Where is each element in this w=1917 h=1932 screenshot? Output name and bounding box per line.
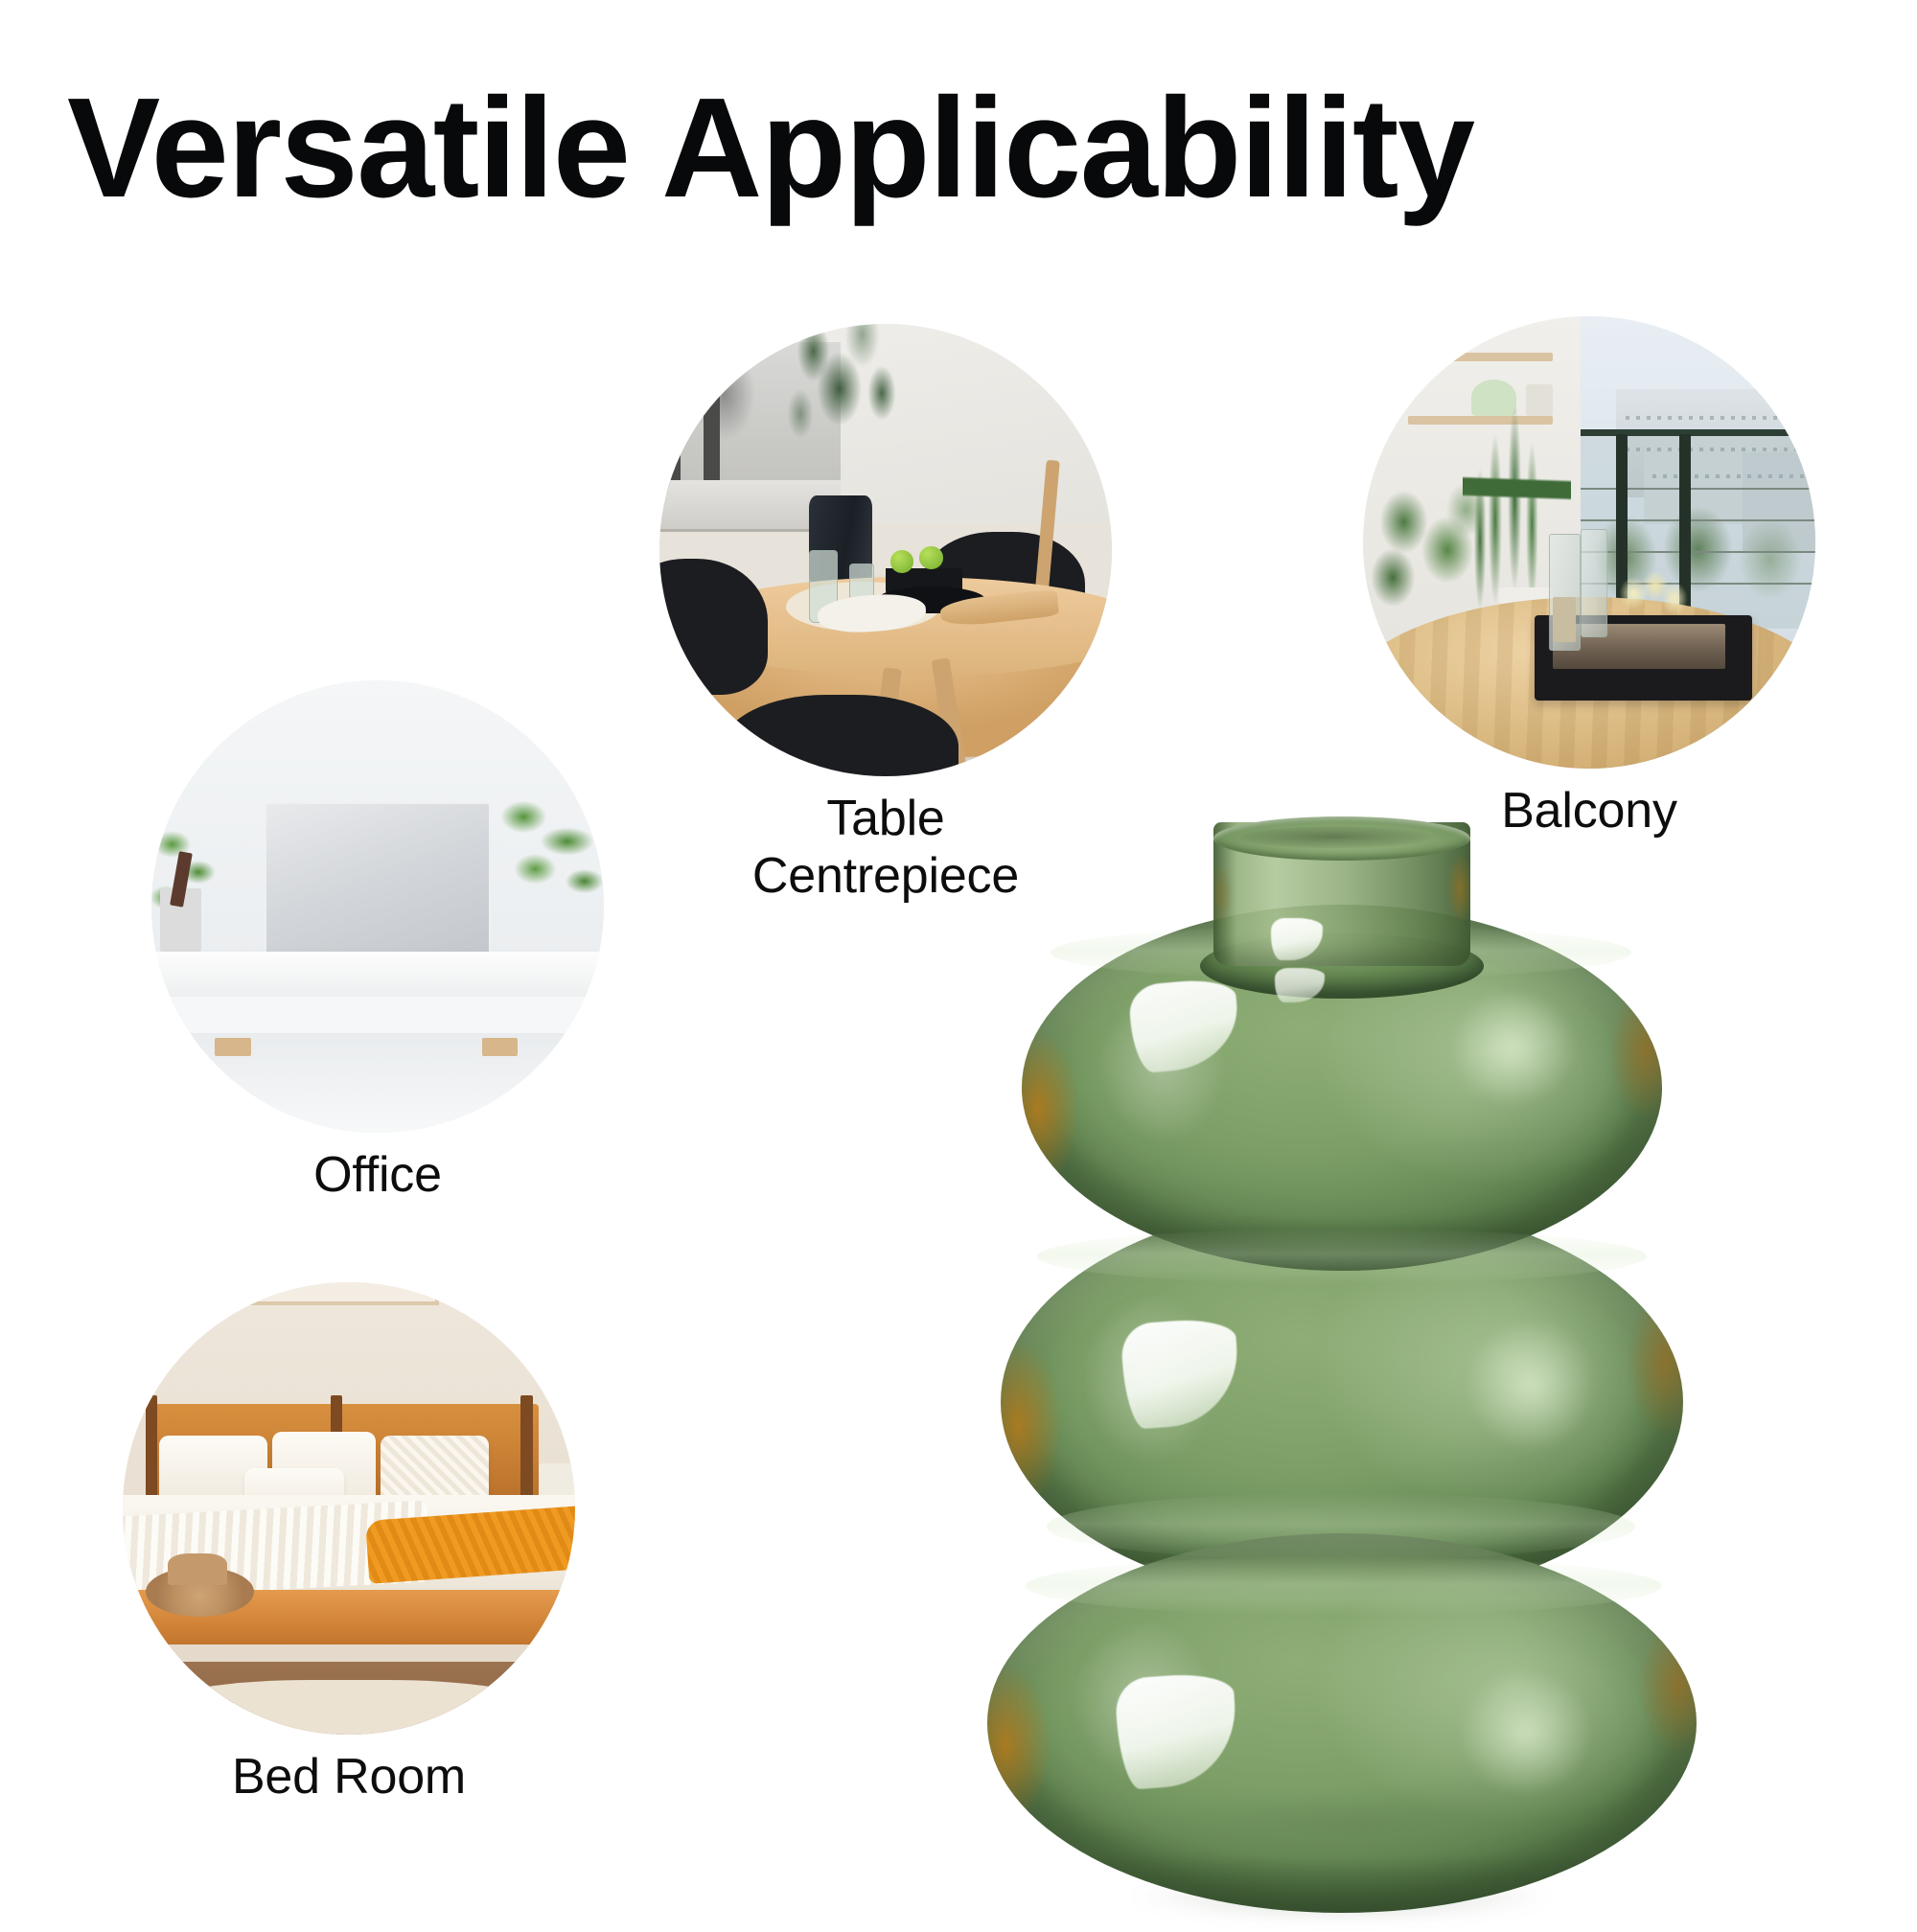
page-title: Versatile Applicability xyxy=(67,75,1842,222)
green-apple xyxy=(890,550,914,573)
cactus-shape xyxy=(665,354,680,495)
candle-wax xyxy=(1553,597,1576,642)
silver-laptop xyxy=(265,802,491,960)
scene-label-office: Office xyxy=(109,1146,646,1204)
knit-pillow xyxy=(381,1436,489,1504)
railing-cable xyxy=(1576,551,1815,553)
bedroom-photo xyxy=(123,1282,575,1735)
cactus-shape xyxy=(704,346,720,499)
scene-balcony: Balcony xyxy=(1363,316,1815,769)
balcony-photo xyxy=(1363,316,1815,769)
vase-rim-opening xyxy=(1213,816,1470,861)
hat-crown xyxy=(168,1553,226,1585)
product-image-green-bubble-glass-vase xyxy=(987,822,1697,1886)
cactus-arm xyxy=(659,395,674,406)
scene-office: Office xyxy=(151,680,604,1133)
desk-front-edge xyxy=(151,997,604,1037)
wooden-bracket xyxy=(215,1038,251,1056)
dining-chair xyxy=(723,695,958,776)
scene-label-bedroom: Bed Room xyxy=(52,1748,646,1805)
railing-cable xyxy=(1576,519,1815,521)
wall-shelf xyxy=(1399,353,1553,361)
fern-plant xyxy=(1363,470,1499,623)
green-apple xyxy=(919,546,943,569)
glass-hurricane-candle xyxy=(1581,529,1607,637)
olive-branches xyxy=(768,324,931,514)
wall-art-frame xyxy=(249,1282,439,1305)
office-plant-right xyxy=(477,780,604,933)
cream-flowers xyxy=(1616,569,1689,624)
office-photo xyxy=(151,680,604,1133)
shelf-object xyxy=(1418,330,1454,353)
wooden-bracket xyxy=(482,1038,519,1056)
building-windows xyxy=(1626,416,1807,420)
railing-cable xyxy=(1576,488,1815,490)
scene-table-centrepiece: Table Centrepiece xyxy=(659,324,1112,776)
table-centrepiece-photo xyxy=(659,324,1112,776)
vase-bottom-bulb xyxy=(987,1533,1697,1913)
scene-bedroom: Bed Room xyxy=(123,1282,575,1735)
area-rug xyxy=(168,1680,530,1735)
railing-cable xyxy=(1576,583,1815,585)
